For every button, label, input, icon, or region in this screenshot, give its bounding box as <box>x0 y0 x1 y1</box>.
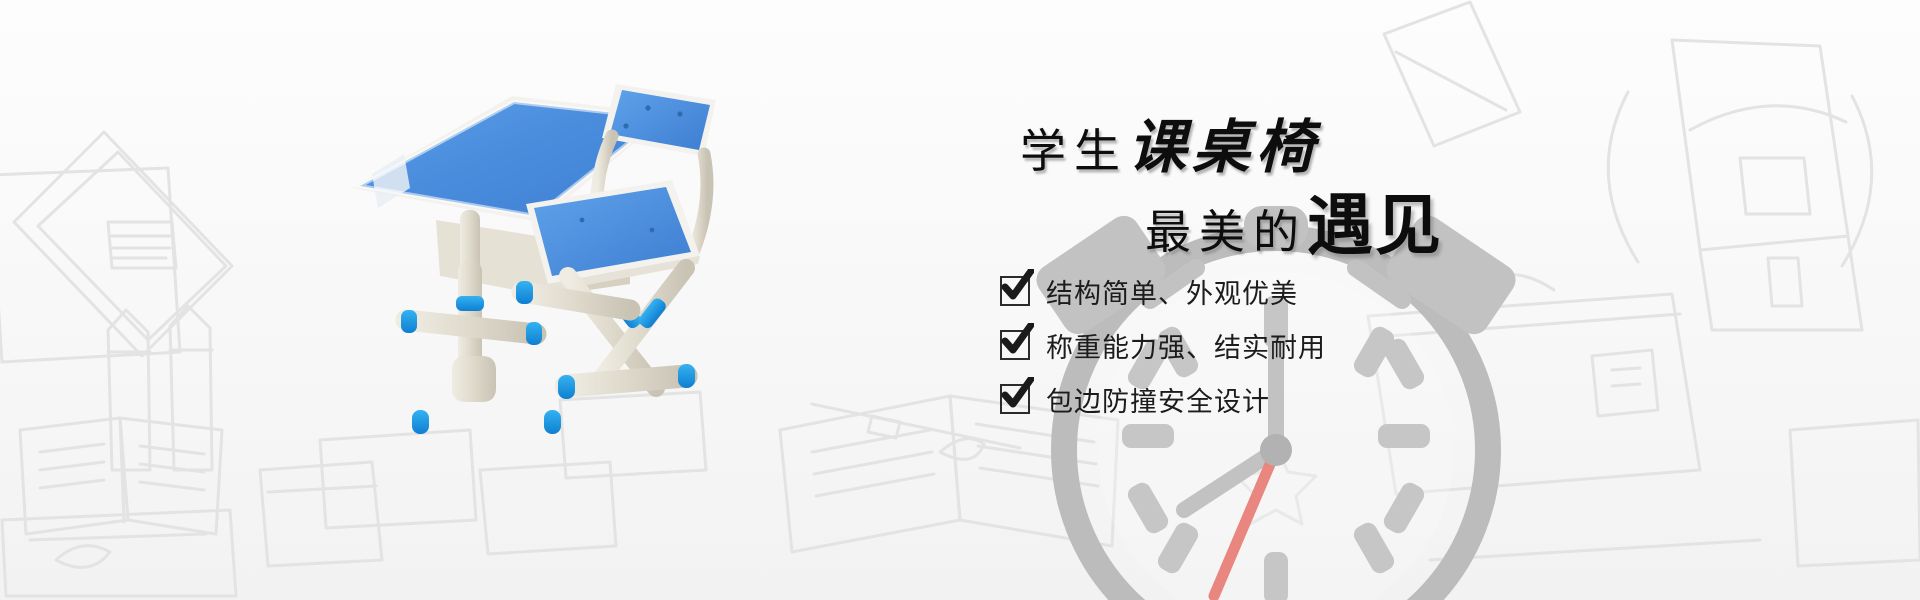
copy-block: 学生课桌椅 最美的遇见 结构简单、外观优美 <box>1000 100 1560 430</box>
feature-item: 结构简单、外观优美 <box>1000 268 1560 314</box>
checkbox-checked-icon <box>1000 384 1030 414</box>
checkbox-checked-icon <box>1000 276 1030 306</box>
feature-item: 称重能力强、结实耐用 <box>1000 322 1560 368</box>
headline-line2-soft: 最美的 <box>1145 207 1307 258</box>
headline-line1-soft: 学生 <box>1020 126 1128 177</box>
promo-banner: 学生课桌椅 最美的遇见 结构简单、外观优美 <box>0 0 1920 600</box>
feature-label: 称重能力强、结实耐用 <box>1046 326 1326 365</box>
checkbox-checked-icon <box>1000 330 1030 360</box>
product-image <box>300 70 820 480</box>
background-line-art <box>0 0 1920 600</box>
feature-item: 包边防撞安全设计 <box>1000 376 1560 422</box>
headline-line1-strong: 课桌椅 <box>1128 115 1320 180</box>
feature-label: 结构简单、外观优美 <box>1046 272 1298 311</box>
feature-label: 包边防撞安全设计 <box>1046 380 1270 419</box>
headline-line-2: 最美的遇见 <box>1145 172 1443 268</box>
headline: 学生课桌椅 最美的遇见 <box>1000 100 1560 250</box>
headline-line2-strong: 遇见 <box>1307 188 1443 262</box>
feature-list: 结构简单、外观优美 称重能力强、结实耐用 包边防撞安全设计 <box>1000 268 1560 422</box>
